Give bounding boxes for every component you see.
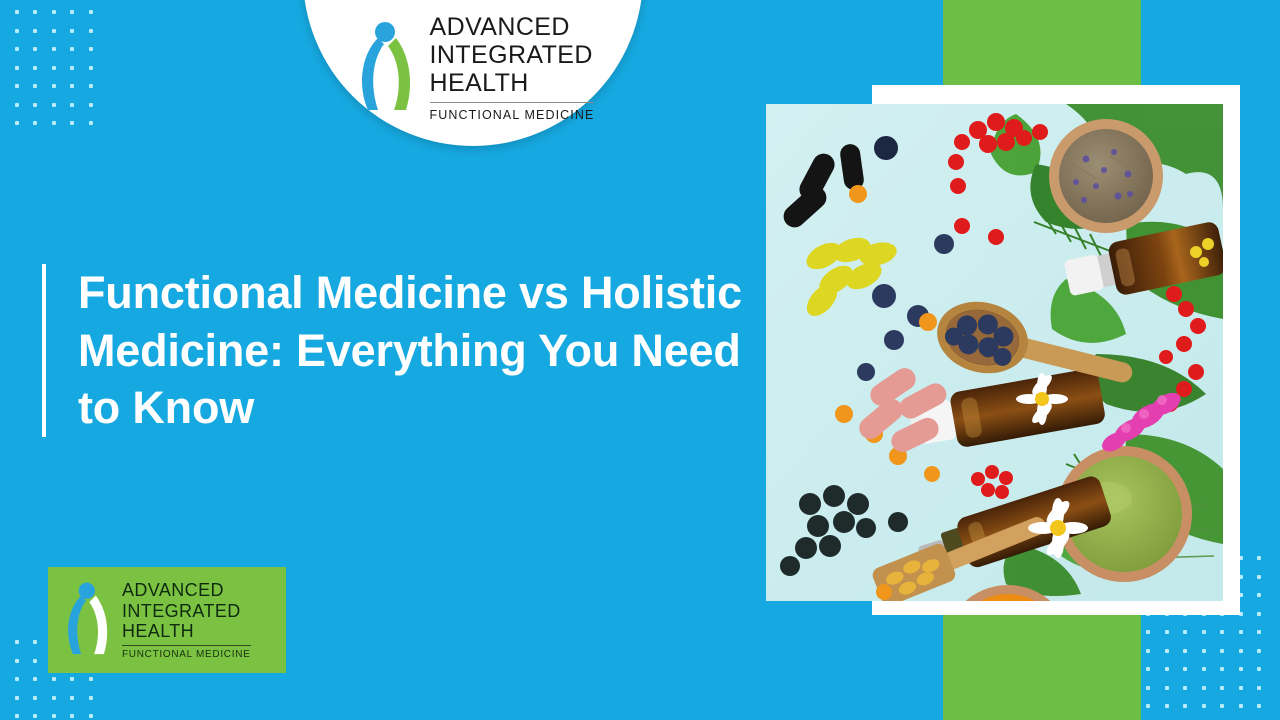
logo-top-line-1: ADVANCED bbox=[430, 13, 595, 41]
logo-top-divider bbox=[430, 102, 595, 103]
logo-bottom-line-2: INTEGRATED bbox=[122, 601, 251, 622]
logo-bottom-line-3: HEALTH bbox=[122, 621, 251, 642]
logo-top-tagline: FUNCTIONAL MEDICINE bbox=[430, 108, 595, 122]
logo-bottom-box: ADVANCED INTEGRATED HEALTH FUNCTIONAL ME… bbox=[48, 567, 286, 673]
logo-top-line-2: INTEGRATED bbox=[430, 41, 595, 69]
logo-bottom-tagline: FUNCTIONAL MEDICINE bbox=[122, 649, 251, 660]
page-title: Functional Medicine vs Holistic Medicine… bbox=[78, 264, 762, 437]
logo-top-content: ADVANCED INTEGRATED HEALTH FUNCTIONAL ME… bbox=[352, 13, 595, 146]
logo-top-wordmark: ADVANCED INTEGRATED HEALTH FUNCTIONAL ME… bbox=[430, 13, 595, 122]
dot-pattern-top-left bbox=[0, 10, 116, 150]
logo-bottom-line-1: ADVANCED bbox=[122, 580, 251, 601]
logo-bottom-divider bbox=[122, 645, 251, 646]
logo-top-circle: ADVANCED INTEGRATED HEALTH FUNCTIONAL ME… bbox=[303, 0, 643, 146]
logo-top-line-3: HEALTH bbox=[430, 69, 595, 97]
advanced-integrated-health-figure-icon bbox=[60, 578, 112, 662]
logo-bottom-wordmark: ADVANCED INTEGRATED HEALTH FUNCTIONAL ME… bbox=[122, 580, 251, 660]
photo-illustration bbox=[766, 104, 1223, 601]
headline-block: Functional Medicine vs Holistic Medicine… bbox=[42, 264, 762, 437]
headline-accent-bar bbox=[42, 264, 46, 437]
advanced-integrated-health-figure-icon bbox=[352, 22, 416, 114]
hero-photo bbox=[766, 104, 1223, 601]
banner-canvas: ADVANCED INTEGRATED HEALTH FUNCTIONAL ME… bbox=[0, 0, 1280, 720]
